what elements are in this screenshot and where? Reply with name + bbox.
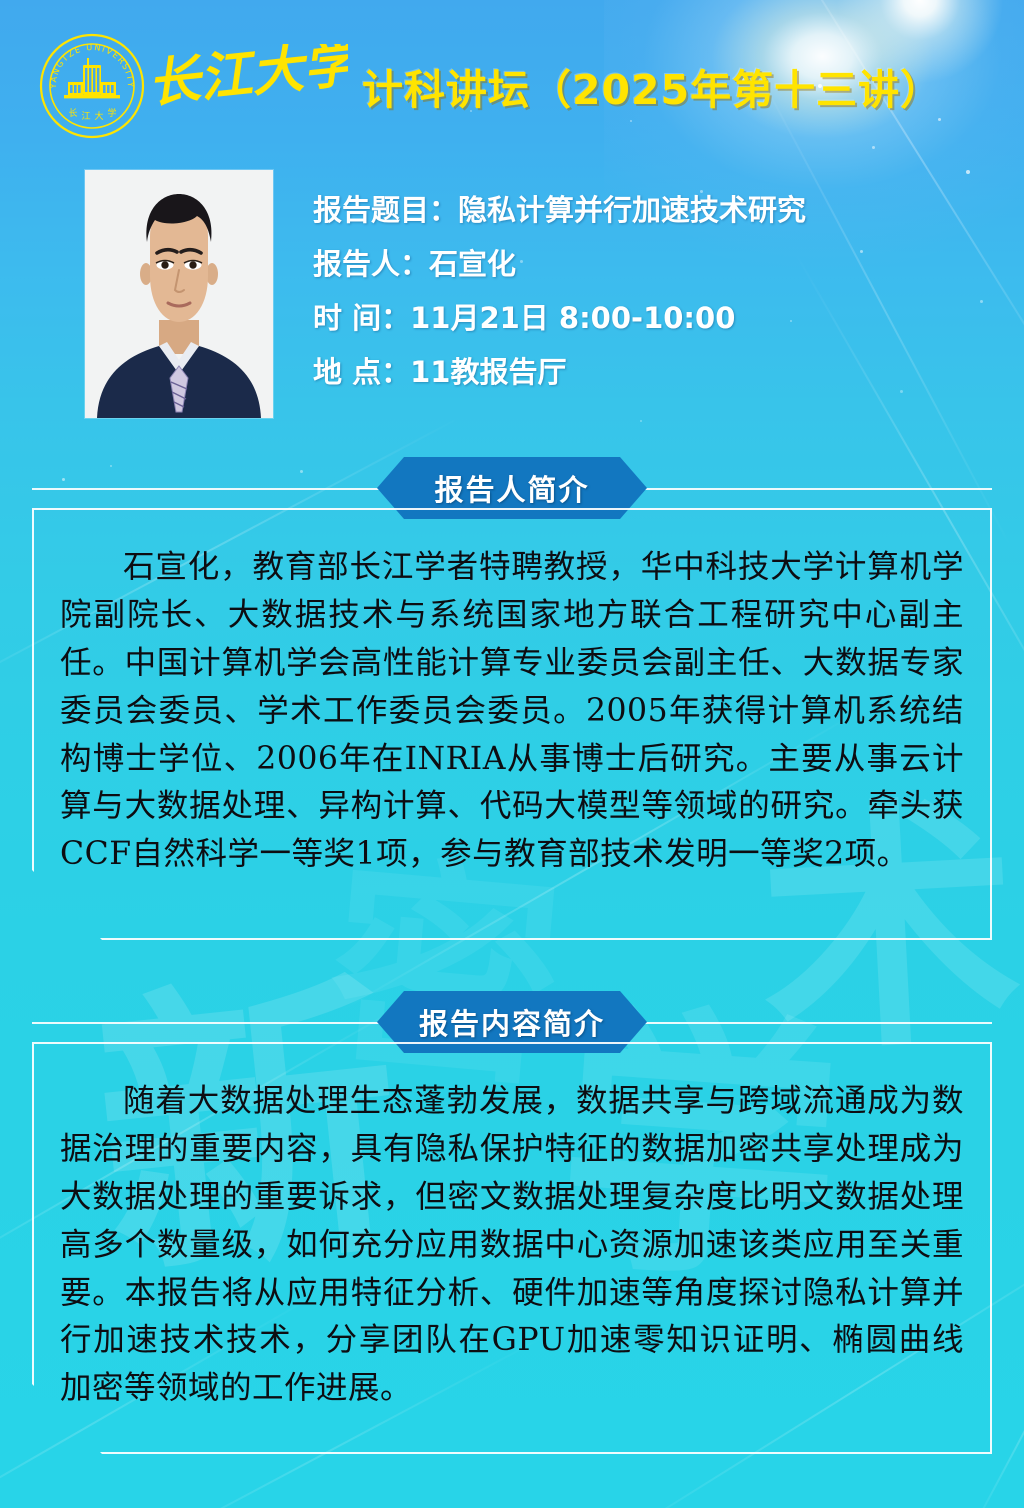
- section-badge-label: 报告人简介: [434, 467, 589, 509]
- svg-text:大: 大: [94, 110, 103, 122]
- talk-abstract-box-inner: 随着大数据处理生态蓬勃发展，数据共享与跨域流通成为数据治理的重要内容，具有隐私保…: [34, 1044, 990, 1443]
- speaker-photo: [85, 170, 273, 418]
- poster-root: 新 学 术 密 YANGTZE UNIVERSITY: [0, 0, 1024, 1508]
- info-row-topic: 报告题目：隐私计算并行加速技术研究: [313, 196, 973, 225]
- info-row-time: 时 间：11月21日 8:00-10:00: [313, 304, 973, 333]
- page-title: 计科讲坛（2025年第十三讲）: [362, 56, 942, 116]
- svg-text:江: 江: [81, 111, 90, 122]
- svg-text:长: 长: [68, 107, 77, 119]
- talk-abstract-box: 随着大数据处理生态蓬勃发展，数据共享与跨域流通成为数据治理的重要内容，具有隐私保…: [32, 1042, 992, 1454]
- university-name-wordmark: 长江大学: [148, 44, 348, 124]
- speaker-info-block: 报告题目：隐私计算并行加速技术研究 报告人：石宣化 时 间：11月21日 8:0…: [313, 196, 973, 412]
- poster-header: YANGTZE UNIVERSITY: [0, 0, 1024, 150]
- section-badge-label: 报告内容简介: [419, 1001, 605, 1043]
- info-row-speaker: 报告人：石宣化: [313, 250, 973, 279]
- svg-text:学: 学: [107, 107, 116, 119]
- speaker-bio-box: 石宣化，教育部长江学者特聘教授，华中科技大学计算机学院副院长、大数据技术与系统国…: [32, 508, 992, 940]
- sparkle-decoration: [980, 300, 983, 303]
- speaker-bio-box-inner: 石宣化，教育部长江学者特聘教授，华中科技大学计算机学院副院长、大数据技术与系统国…: [34, 510, 990, 909]
- talk-abstract-text: 随着大数据处理生态蓬勃发展，数据共享与跨域流通成为数据治理的重要内容，具有隐私保…: [60, 1078, 964, 1413]
- svg-text:长江大学: 长江大学: [148, 44, 348, 115]
- info-row-place: 地 点：11教报告厅: [313, 358, 973, 387]
- speaker-bio-text: 石宣化，教育部长江学者特聘教授，华中科技大学计算机学院副院长、大数据技术与系统国…: [60, 544, 964, 879]
- university-logo-icon: YANGTZE UNIVERSITY: [38, 32, 146, 140]
- sparkle-decoration: [640, 420, 642, 422]
- sparkle-decoration: [966, 170, 970, 174]
